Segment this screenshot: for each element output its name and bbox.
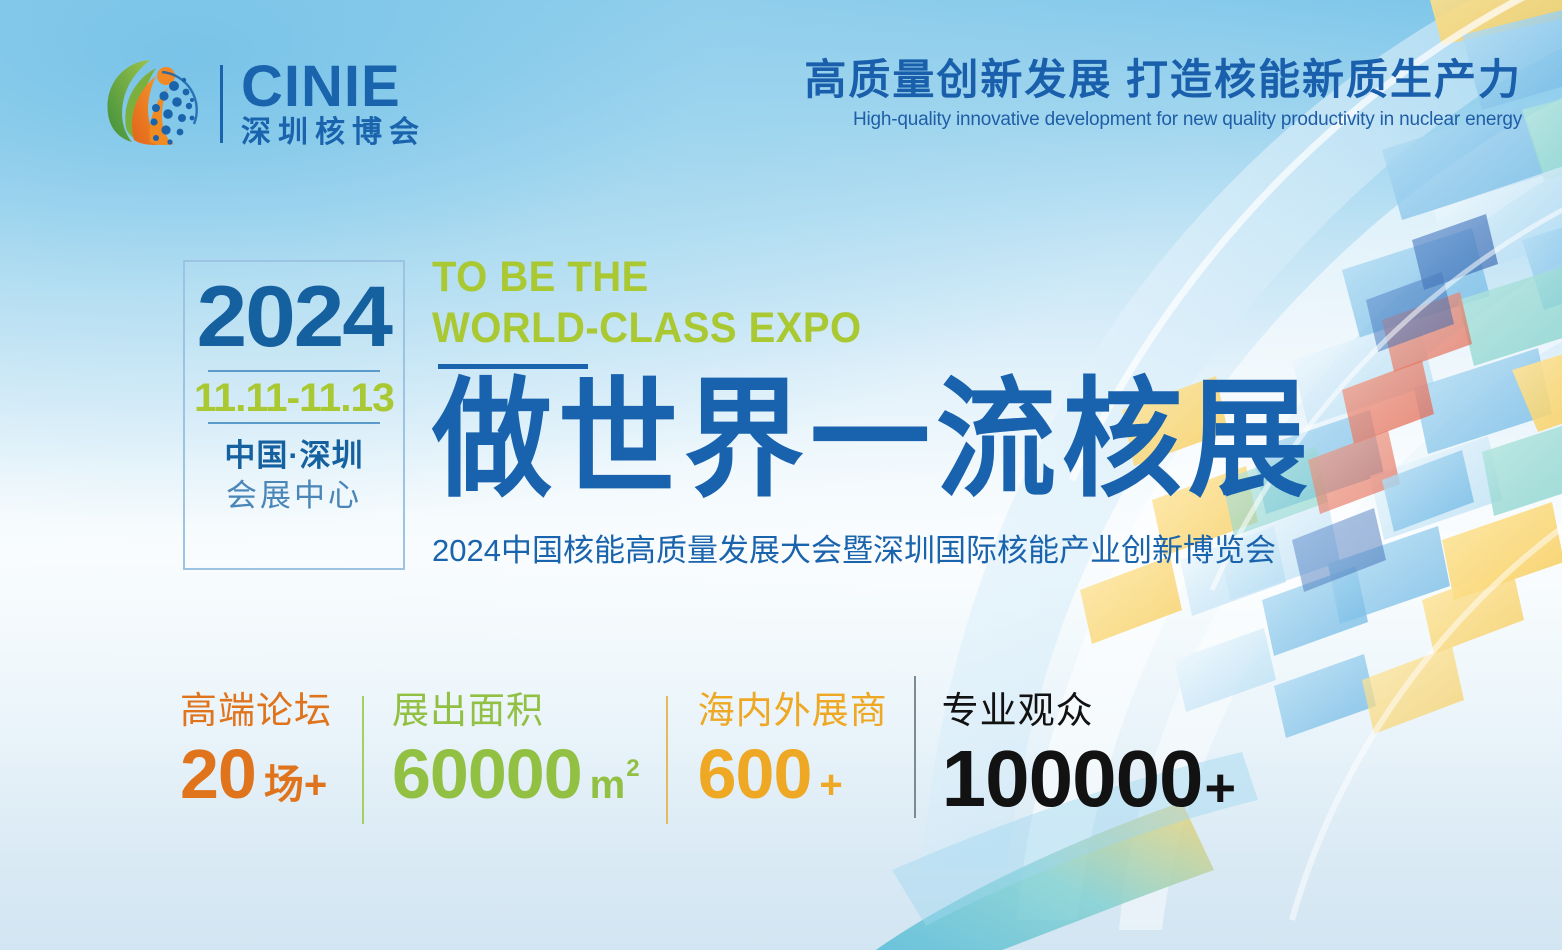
stat-number: 600: [698, 739, 812, 809]
stat-unit: +: [1205, 761, 1237, 815]
stat-divider-2: [666, 696, 668, 824]
date-divider-top: [208, 370, 380, 372]
stats-row: 高端论坛 20 场+ 展出面积 60000 m 2 海内外展商 600 +: [180, 690, 1236, 824]
stat-number: 60000: [392, 739, 582, 809]
stat-unit: 场+: [264, 765, 327, 805]
event-date-venue-box: 2024 11.11-11.13 中国·深圳 会展中心: [183, 260, 405, 570]
stat-label: 高端论坛: [180, 690, 332, 731]
stat-exhibitors: 海内外展商 600 +: [698, 690, 888, 809]
stat-divider-3: [914, 676, 916, 818]
event-year: 2024: [197, 274, 391, 360]
slogan-english: High-quality innovative development for …: [804, 109, 1522, 131]
event-city: 中国·深圳: [224, 436, 363, 476]
stat-number: 100000: [942, 739, 1203, 819]
stat-unit: +: [819, 765, 842, 805]
cinie-logo[interactable]: CINIE 深圳核博会: [98, 52, 426, 156]
logo-wordmark-group: CINIE 深圳核博会: [241, 60, 426, 147]
stat-value: 100000 +: [942, 739, 1237, 819]
stat-unit: m: [590, 765, 626, 805]
stat-forums: 高端论坛 20 场+: [180, 690, 332, 809]
stat-divider-1: [362, 696, 364, 824]
event-venue: 会展中心: [226, 476, 362, 516]
stat-superscript: 2: [626, 757, 639, 781]
stat-visitors: 专业观众 100000 +: [942, 690, 1237, 819]
event-dates: 11.11-11.13: [194, 378, 394, 418]
top-slogan: 高质量创新发展 打造核能新质生产力 High-quality innovativ…: [804, 57, 1522, 131]
headline-subtitle: 2024中国核能高质量发展大会暨深圳国际核能产业创新博览会: [432, 525, 1314, 570]
stat-value: 20 场+: [180, 739, 332, 809]
stat-label: 专业观众: [942, 690, 1237, 731]
stat-value: 600 +: [698, 739, 888, 809]
stat-label: 展出面积: [392, 690, 640, 731]
headline-english-line2: WORLD-CLASS EXPO: [432, 307, 1252, 350]
logo-divider: [220, 65, 223, 143]
cinie-leaf-globe-icon: [98, 52, 202, 156]
stat-number: 20: [180, 739, 256, 809]
headline-block: TO BE THE WORLD-CLASS EXPO 做世界一流核展 2024中…: [432, 256, 1314, 570]
headline-chinese: 做世界一流核展: [432, 371, 1314, 511]
logo-wordmark: CINIE: [241, 60, 426, 113]
date-divider-bottom: [208, 422, 380, 424]
expo-poster: CINIE 深圳核博会 高质量创新发展 打造核能新质生产力 High-quali…: [0, 0, 1562, 950]
slogan-chinese: 高质量创新发展 打造核能新质生产力: [804, 57, 1522, 103]
stat-exhibition-area: 展出面积 60000 m 2: [392, 690, 640, 809]
headline-english-line1: TO BE THE: [432, 256, 1252, 299]
stat-label: 海内外展商: [698, 690, 888, 731]
logo-chinese-name: 深圳核博会: [241, 118, 426, 148]
stat-value: 60000 m 2: [392, 739, 640, 809]
